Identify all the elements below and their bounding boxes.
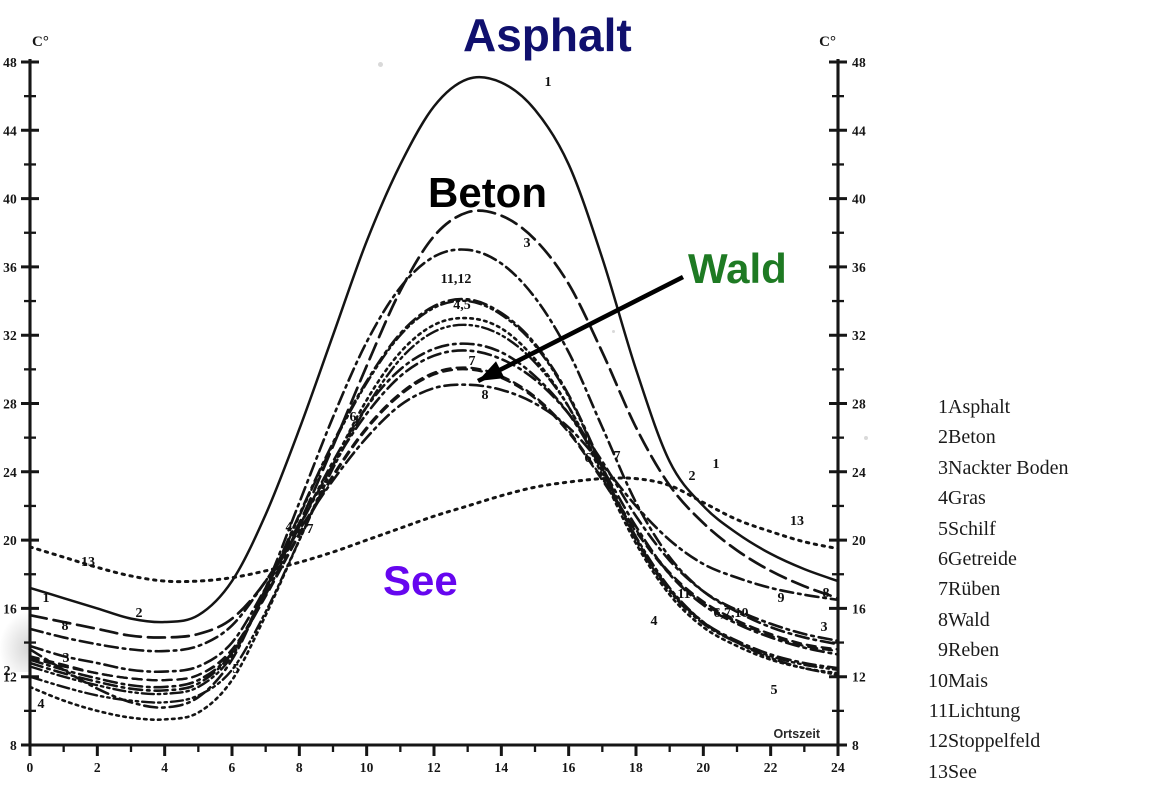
curve-label: 8 [823, 586, 830, 601]
legend-item: 6Getreide [928, 544, 1069, 574]
legend-label: Nackter Boden [948, 453, 1069, 483]
legend-index: 9 [928, 635, 948, 665]
curve-label: 4 [651, 614, 658, 629]
curve-label: 6 [350, 410, 357, 425]
svg-text:20: 20 [852, 533, 866, 548]
legend-item: 4Gras [928, 483, 1069, 513]
legend-label: Beton [948, 422, 1069, 452]
curve-label: 3 [63, 651, 70, 666]
legend-label: Gras [948, 483, 1069, 513]
curve-label: 4 [286, 520, 293, 535]
legend-label: Rüben [948, 574, 1069, 604]
legend-item: 3Nackter Boden [928, 453, 1069, 483]
legend-index: 7 [928, 574, 948, 604]
legend-label: Asphalt [948, 392, 1069, 422]
svg-text:24: 24 [3, 465, 17, 480]
figure-root: 812162024283236404448C°81216202428323640… [0, 0, 1165, 778]
svg-text:14: 14 [494, 760, 508, 775]
chart-axes: 812162024283236404448C°81216202428323640… [3, 34, 866, 775]
svg-text:36: 36 [852, 260, 866, 275]
svg-text:28: 28 [852, 397, 866, 412]
legend-label: Schilf [948, 514, 1069, 544]
curve-label: 4 [38, 697, 45, 712]
legend-index: 12 [928, 726, 948, 756]
curve-label: 1 [545, 75, 552, 90]
legend-item: 7Rüben [928, 574, 1069, 604]
svg-text:28: 28 [3, 397, 17, 412]
svg-text:8: 8 [296, 760, 303, 775]
legend-item: 2Beton [928, 422, 1069, 452]
svg-text:Ortszeit: Ortszeit [773, 727, 820, 741]
curve-5 [30, 325, 838, 703]
curve-label: 13 [790, 514, 804, 529]
curve-label: 2 [136, 606, 143, 621]
legend-item: 8Wald [928, 605, 1069, 635]
legend-index: 1 [928, 392, 948, 422]
curve-label: 9 [778, 591, 785, 606]
curve-12 [30, 299, 838, 691]
svg-text:36: 36 [3, 260, 17, 275]
curve-label: 13 [81, 555, 95, 570]
svg-text:16: 16 [852, 601, 866, 616]
svg-text:44: 44 [3, 123, 17, 138]
svg-text:12: 12 [852, 670, 866, 685]
legend-index: 6 [928, 544, 948, 574]
legend-item: 12Stoppelfeld [928, 726, 1069, 756]
legend-label: Reben [948, 635, 1069, 665]
svg-text:32: 32 [3, 328, 17, 343]
legend-item: 9Reben [928, 635, 1069, 665]
curve-number-labels: 1311,124,578647131283524672113116,7,1098… [4, 75, 830, 712]
curve-label: 6,7,10 [714, 606, 749, 621]
legend-label: Stoppelfeld [948, 726, 1069, 756]
curve-label: 11 [677, 587, 690, 602]
legend-label: See [948, 757, 1069, 787]
legend-label: Mais [948, 666, 1069, 696]
legend-label: Getreide [948, 544, 1069, 574]
legend-item: 10Mais [928, 666, 1069, 696]
wald-arrow-line [478, 277, 683, 381]
curve-label: 4,5 [453, 298, 471, 313]
curve-label: 3 [524, 236, 531, 251]
curve-label: 8 [62, 619, 69, 634]
legend-item: 11Lichtung [928, 696, 1069, 726]
svg-text:24: 24 [831, 760, 845, 775]
curve-label: 7 [614, 449, 621, 464]
legend-table: 1Asphalt2Beton3Nackter Boden4Gras5Schilf… [928, 392, 1069, 787]
curve-label: 11,12 [441, 272, 472, 287]
legend: 1Asphalt2Beton3Nackter Boden4Gras5Schilf… [928, 392, 1069, 787]
svg-text:24: 24 [852, 465, 866, 480]
legend-index: 5 [928, 514, 948, 544]
legend-index: 2 [928, 422, 948, 452]
svg-text:48: 48 [852, 55, 866, 70]
curve-1 [30, 77, 838, 622]
callout-wald: Wald [688, 248, 787, 290]
svg-text:C°: C° [819, 34, 836, 50]
svg-text:C°: C° [32, 34, 49, 50]
curve-label: 2 [4, 664, 11, 679]
curve-label: 3 [821, 620, 828, 635]
curve-label: 7 [469, 354, 476, 369]
legend-index: 13 [928, 757, 948, 787]
curve-label: 1 [713, 457, 720, 472]
svg-text:16: 16 [562, 760, 576, 775]
legend-item: 5Schilf [928, 514, 1069, 544]
svg-text:12: 12 [427, 760, 441, 775]
svg-text:10: 10 [360, 760, 374, 775]
svg-text:4: 4 [161, 760, 168, 775]
svg-text:40: 40 [3, 192, 17, 207]
svg-text:20: 20 [696, 760, 710, 775]
svg-text:32: 32 [852, 328, 866, 343]
callout-beton: Beton [428, 172, 547, 214]
svg-text:8: 8 [10, 738, 17, 753]
legend-index: 4 [928, 483, 948, 513]
curve-3 [30, 249, 838, 707]
curve-label: 5 [233, 662, 240, 677]
curve-label: 1 [43, 591, 50, 606]
legend-item: 1Asphalt [928, 392, 1069, 422]
curve-label: 6 [585, 451, 592, 466]
svg-text:0: 0 [27, 760, 34, 775]
svg-text:20: 20 [3, 533, 17, 548]
callout-see: See [383, 560, 458, 602]
legend-index: 10 [928, 666, 948, 696]
curve-label: 8 [482, 388, 489, 403]
svg-text:48: 48 [3, 55, 17, 70]
svg-text:40: 40 [852, 192, 866, 207]
legend-index: 3 [928, 453, 948, 483]
curve-label: 5 [771, 683, 778, 698]
legend-index: 8 [928, 605, 948, 635]
curve-label: 2 [689, 469, 696, 484]
curve-label: 7 [307, 522, 314, 537]
svg-text:18: 18 [629, 760, 643, 775]
svg-text:22: 22 [764, 760, 778, 775]
callout-asphalt: Asphalt [463, 12, 632, 58]
legend-index: 11 [928, 696, 948, 726]
svg-text:6: 6 [229, 760, 236, 775]
callout-arrows [478, 277, 683, 381]
legend-item: 13See [928, 757, 1069, 787]
legend-label: Wald [948, 605, 1069, 635]
svg-text:16: 16 [3, 601, 17, 616]
svg-text:8: 8 [852, 738, 859, 753]
svg-text:44: 44 [852, 123, 866, 138]
legend-label: Lichtung [948, 696, 1069, 726]
svg-text:2: 2 [94, 760, 101, 775]
